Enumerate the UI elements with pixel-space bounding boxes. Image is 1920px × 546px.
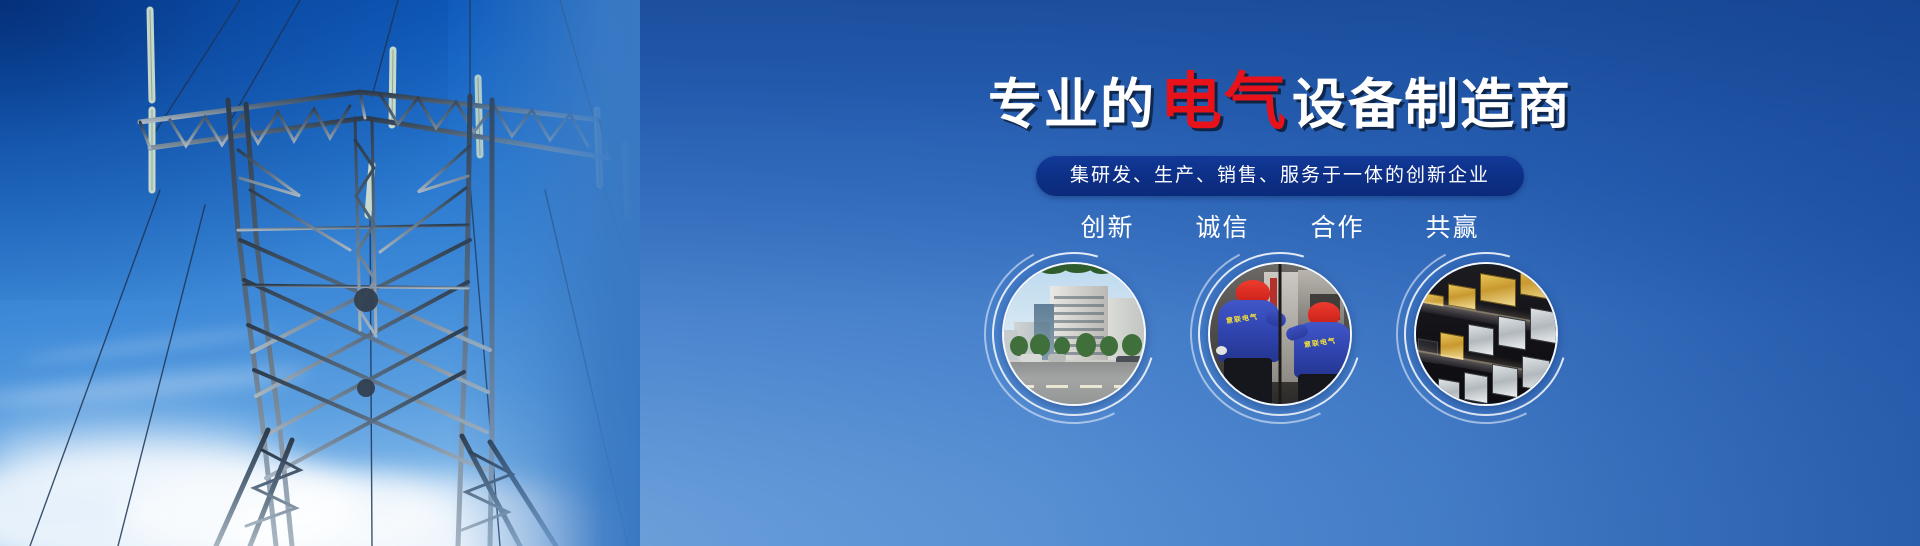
keyword-item-3: 合作 (1310, 208, 1364, 244)
photo-circle-gallery: 意联电气 意联电气 (640, 262, 1920, 406)
keyword-item-1: 创新 (1081, 208, 1135, 244)
workers-installing-image: 意联电气 意联电气 (1210, 264, 1350, 404)
headline-suffix: 设备制造商 (1292, 75, 1572, 135)
photo-frame: 意联电气 意联电气 (1208, 262, 1352, 406)
tagline-text: 集研发、生产、销售、服务于一体的创新企业 (1070, 165, 1490, 186)
hero-banner: 专业的电气设备制造商 集研发、生产、销售、服务于一体的创新企业 创新 诚信 合作… (0, 0, 1920, 546)
power-transmission-tower-photo (0, 0, 640, 546)
tagline-badge: 集研发、生产、销售、服务于一体的创新企业 (1036, 156, 1524, 196)
office-building-image (1004, 264, 1144, 404)
headline-highlight: 电气 (1160, 68, 1288, 137)
banner-content: 专业的电气设备制造商 集研发、生产、销售、服务于一体的创新企业 创新 诚信 合作… (640, 0, 1920, 546)
photo-edge-fade (450, 0, 640, 546)
page-title: 专业的电气设备制造商 (640, 72, 1920, 134)
circle-photo-workers-installing[interactable]: 意联电气 意联电气 (1208, 262, 1352, 406)
headline-prefix: 专业的 (988, 75, 1156, 135)
keyword-item-4: 共赢 (1425, 208, 1479, 244)
keyword-item-2: 诚信 (1196, 208, 1250, 244)
circle-photo-office-building[interactable] (1002, 262, 1146, 406)
circle-photo-certificate-wall[interactable] (1414, 262, 1558, 406)
photo-frame (1414, 262, 1558, 406)
keyword-list: 创新 诚信 合作 共赢 (640, 208, 1920, 244)
photo-frame (1002, 262, 1146, 406)
certificate-wall-image (1416, 264, 1556, 404)
